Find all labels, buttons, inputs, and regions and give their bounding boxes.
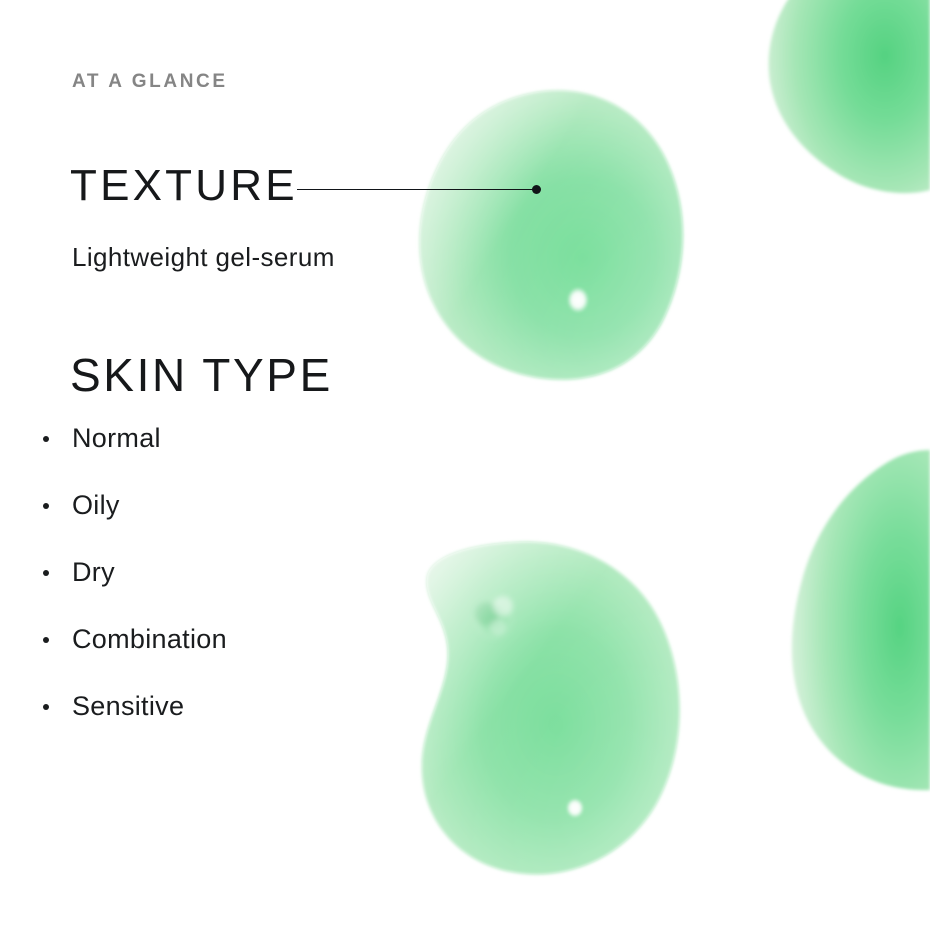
list-item: Combination — [0, 625, 400, 692]
bullet-dot-icon — [43, 503, 49, 509]
bullet-dot-icon — [43, 637, 49, 643]
list-item-label: Combination — [72, 624, 227, 654]
list-item-label: Sensitive — [72, 691, 184, 721]
list-item-label: Oily — [72, 490, 120, 520]
eyebrow-label: AT A GLANCE — [72, 72, 228, 91]
skin-type-list: Normal Oily Dry Combination Sensitive — [0, 424, 400, 759]
infographic-canvas: AT A GLANCE TEXTURE Lightweight gel-seru… — [0, 0, 930, 930]
bullet-dot-icon — [43, 570, 49, 576]
text-content-layer: AT A GLANCE TEXTURE Lightweight gel-seru… — [0, 0, 930, 930]
texture-leader-line — [297, 189, 535, 190]
list-item: Sensitive — [0, 692, 400, 759]
texture-callout-dot — [532, 185, 541, 194]
list-item-label: Dry — [72, 557, 115, 587]
page-title-skin-type: SKIN TYPE — [70, 352, 333, 398]
list-item: Dry — [0, 558, 400, 625]
texture-description: Lightweight gel-serum — [72, 244, 335, 270]
bullet-dot-icon — [43, 436, 49, 442]
list-item: Oily — [0, 491, 400, 558]
list-item: Normal — [0, 424, 400, 491]
page-title-texture: TEXTURE — [70, 164, 298, 208]
bullet-dot-icon — [43, 704, 49, 710]
list-item-label: Normal — [72, 423, 161, 453]
